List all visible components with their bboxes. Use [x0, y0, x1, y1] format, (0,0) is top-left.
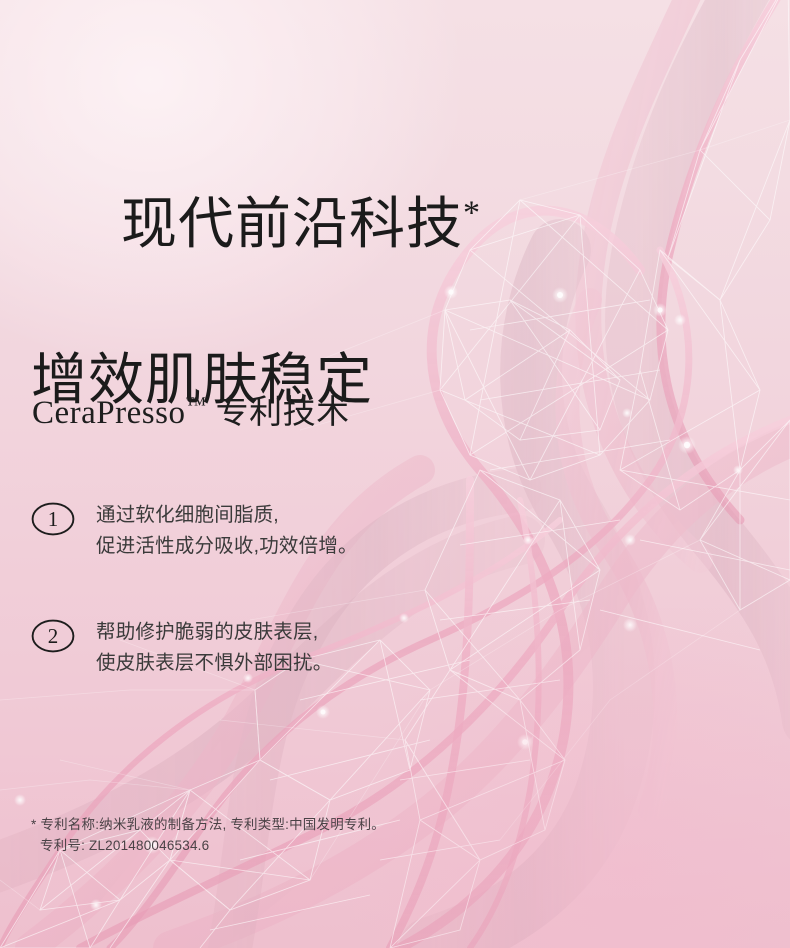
number-badge-1: 1 — [31, 502, 75, 536]
list-item: 2 帮助修护脆弱的皮肤表层, 使皮肤表层不惧外部困扰。 — [31, 617, 461, 679]
benefit-list: 1 通过软化细胞间脂质, 促进活性成分吸收,功效倍增。 2 帮助修护脆弱的皮肤表… — [31, 500, 461, 734]
content-layer: 现代前沿科技* 增效肌肤稳定 CeraPresso™专利技术 1 通过软化细胞间… — [0, 0, 790, 948]
promo-page: 现代前沿科技* 增效肌肤稳定 CeraPresso™专利技术 1 通过软化细胞间… — [0, 0, 790, 948]
badge-number: 1 — [31, 502, 75, 536]
patent-footnote: * 专利名称:纳米乳液的制备方法, 专利类型:中国发明专利。 专利号: ZL20… — [31, 793, 385, 877]
brand-suffix: 专利技术 — [216, 395, 350, 431]
badge-number: 2 — [31, 619, 75, 653]
trademark-symbol: ™ — [185, 392, 206, 416]
brand-name: CeraPresso — [32, 395, 185, 431]
headline-line-1: 现代前沿科技 — [121, 194, 463, 256]
number-badge-2: 2 — [31, 619, 75, 653]
brand-technology-name: CeraPresso™专利技术 — [32, 385, 350, 433]
headline-asterisk: * — [463, 194, 480, 231]
footnote-line-2: 专利号: ZL201480046534.6 — [31, 835, 385, 856]
footnote-line-1: * 专利名称:纳米乳液的制备方法, 专利类型:中国发明专利。 — [31, 817, 385, 832]
list-item-text: 通过软化细胞间脂质, 促进活性成分吸收,功效倍增。 — [96, 500, 358, 562]
list-item: 1 通过软化细胞间脂质, 促进活性成分吸收,功效倍增。 — [31, 500, 461, 562]
list-item-text: 帮助修护脆弱的皮肤表层, 使皮肤表层不惧外部困扰。 — [96, 617, 332, 679]
